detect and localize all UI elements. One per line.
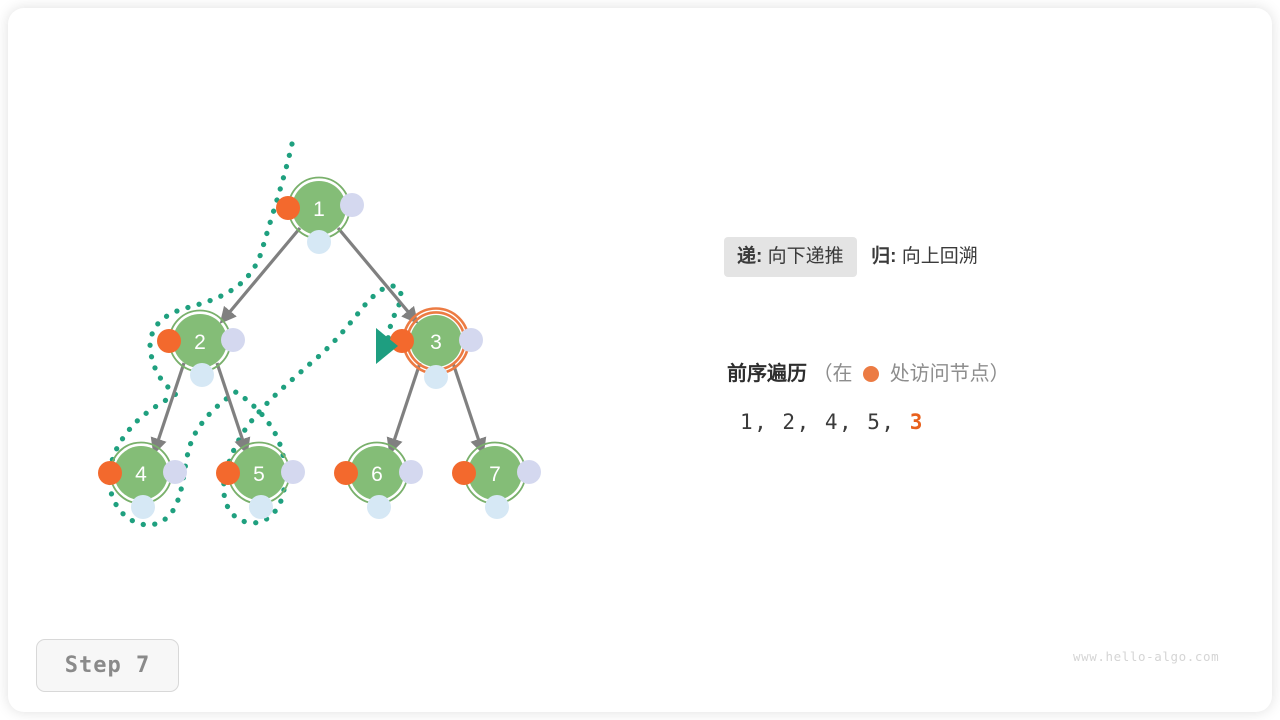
legend-recurse-text: 向下递推 (768, 246, 844, 267)
traversal-note-before: （在 (813, 363, 853, 385)
edge-3-6 (391, 363, 420, 450)
tree-node-7[interactable]: 7 (452, 443, 541, 520)
node-5-right-dot (281, 460, 305, 484)
node-1-visit-dot (276, 196, 300, 220)
watermark: www.hello-algo.com (1073, 649, 1219, 664)
node-2-visit-dot (157, 329, 181, 353)
node-7-right-dot (517, 460, 541, 484)
step-badge: Step 7 (36, 639, 179, 692)
legend-return-text: 向上回溯 (902, 246, 978, 267)
traversal-sequence-current: 3 (910, 410, 924, 434)
edge-1-2 (223, 228, 300, 320)
figure-canvas: 1 2 3 4 (0, 0, 1280, 720)
node-4-visit-dot (98, 461, 122, 485)
node-5-visit-dot (216, 461, 240, 485)
traversal-sequence: 1, 2, 4, 5, 3 (740, 412, 924, 433)
traversal-order-title: 前序遍历 （在 处访问节点） (727, 364, 1010, 384)
node-3-label: 3 (430, 331, 442, 354)
tree-node-2[interactable]: 2 (157, 311, 245, 388)
node-6-right-dot (399, 460, 423, 484)
tree-node-3[interactable]: 3 (390, 309, 483, 390)
node-1-right-dot (340, 193, 364, 217)
node-6-bottom-dot (367, 495, 391, 519)
node-6-label: 6 (371, 463, 383, 486)
legend-return-row: 归: 向上回溯 (858, 237, 991, 277)
tree-node-4[interactable]: 4 (98, 443, 187, 520)
traversal-type-label: 前序遍历 (727, 363, 807, 385)
node-3-bottom-dot (424, 365, 448, 389)
legend-return-label: 归: (871, 246, 896, 267)
node-4-label: 4 (135, 463, 147, 486)
legend-panel: 递: 向下递推 归: 向上回溯 (727, 234, 1227, 277)
node-6-visit-dot (334, 461, 358, 485)
node-5-label: 5 (253, 463, 265, 486)
edge-3-7 (453, 363, 482, 450)
binary-tree-diagram: 1 2 3 4 (0, 0, 1280, 720)
step-badge-label: Step 7 (65, 653, 150, 678)
visit-marker-icon (863, 366, 879, 382)
node-1-label: 1 (313, 198, 325, 221)
edge-1-3 (338, 228, 415, 320)
traversal-note-after: 处访问节点） (890, 363, 1010, 385)
tree-node-6[interactable]: 6 (334, 443, 423, 520)
node-5-bottom-dot (249, 495, 273, 519)
node-2-label: 2 (194, 331, 206, 354)
node-4-right-dot (163, 460, 187, 484)
node-4-bottom-dot (131, 495, 155, 519)
node-3-right-dot (459, 328, 483, 352)
traversal-sequence-prefix: 1, 2, 4, 5, (740, 410, 896, 434)
node-7-visit-dot (452, 461, 476, 485)
legend-recurse-row: 递: 向下递推 (724, 237, 857, 277)
edge-2-5 (217, 363, 246, 450)
node-7-bottom-dot (485, 495, 509, 519)
node-2-right-dot (221, 328, 245, 352)
node-2-bottom-dot (190, 363, 214, 387)
node-7-label: 7 (489, 463, 501, 486)
node-1-bottom-dot (307, 230, 331, 254)
legend-recurse-label: 递: (737, 246, 762, 267)
